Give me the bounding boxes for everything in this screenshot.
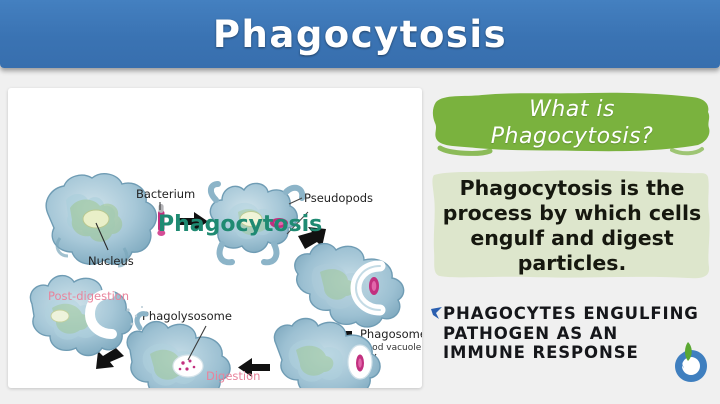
- phagocytosis-diagram-card: Nucleus Bacterium: [8, 88, 422, 388]
- definition-text: Phagocytosis is the process by which cel…: [434, 176, 710, 276]
- question-header: What is Phagocytosis?: [430, 88, 714, 164]
- label-post-digestion: Post-digestion: [48, 289, 129, 303]
- brand-logo-icon: [671, 339, 711, 383]
- caption-block: PHAGOCYTES ENGULFING PATHOGEN AS AN IMMU…: [430, 301, 714, 389]
- question-line-2: Phagocytosis?: [430, 123, 714, 150]
- phagocytosis-cycle-illustration: Nucleus Bacterium: [8, 88, 422, 388]
- caption-line-3: IMMUNE RESPONSE: [443, 343, 703, 363]
- label-bacterium: Bacterium: [136, 187, 195, 201]
- diagram-center-label: Phagocytosis: [158, 212, 322, 237]
- question-line-1: What is: [430, 96, 714, 123]
- pointer-marker-icon: [430, 306, 444, 322]
- page-header-banner: Phagocytosis: [0, 0, 720, 68]
- caption-line-2: PATHOGEN AS AN: [443, 324, 703, 344]
- stage-post-digestion: [30, 276, 143, 356]
- label-nucleus: Nucleus: [88, 254, 134, 268]
- definition-panel: Phagocytosis is the process by which cel…: [430, 167, 714, 287]
- label-digestion: Digestion: [206, 369, 260, 383]
- caption-line-1: PHAGOCYTES ENGULFING: [443, 304, 703, 324]
- stage-engulfing: [295, 244, 404, 327]
- label-pseudopods: Pseudopods: [304, 191, 373, 205]
- page-title: Phagocytosis: [213, 13, 507, 56]
- info-column: What is Phagocytosis? Phagocytosis is th…: [430, 88, 714, 396]
- label-phagolysosome: Phagolysosome: [142, 309, 232, 323]
- label-phagosome: Phagosome: [360, 327, 422, 341]
